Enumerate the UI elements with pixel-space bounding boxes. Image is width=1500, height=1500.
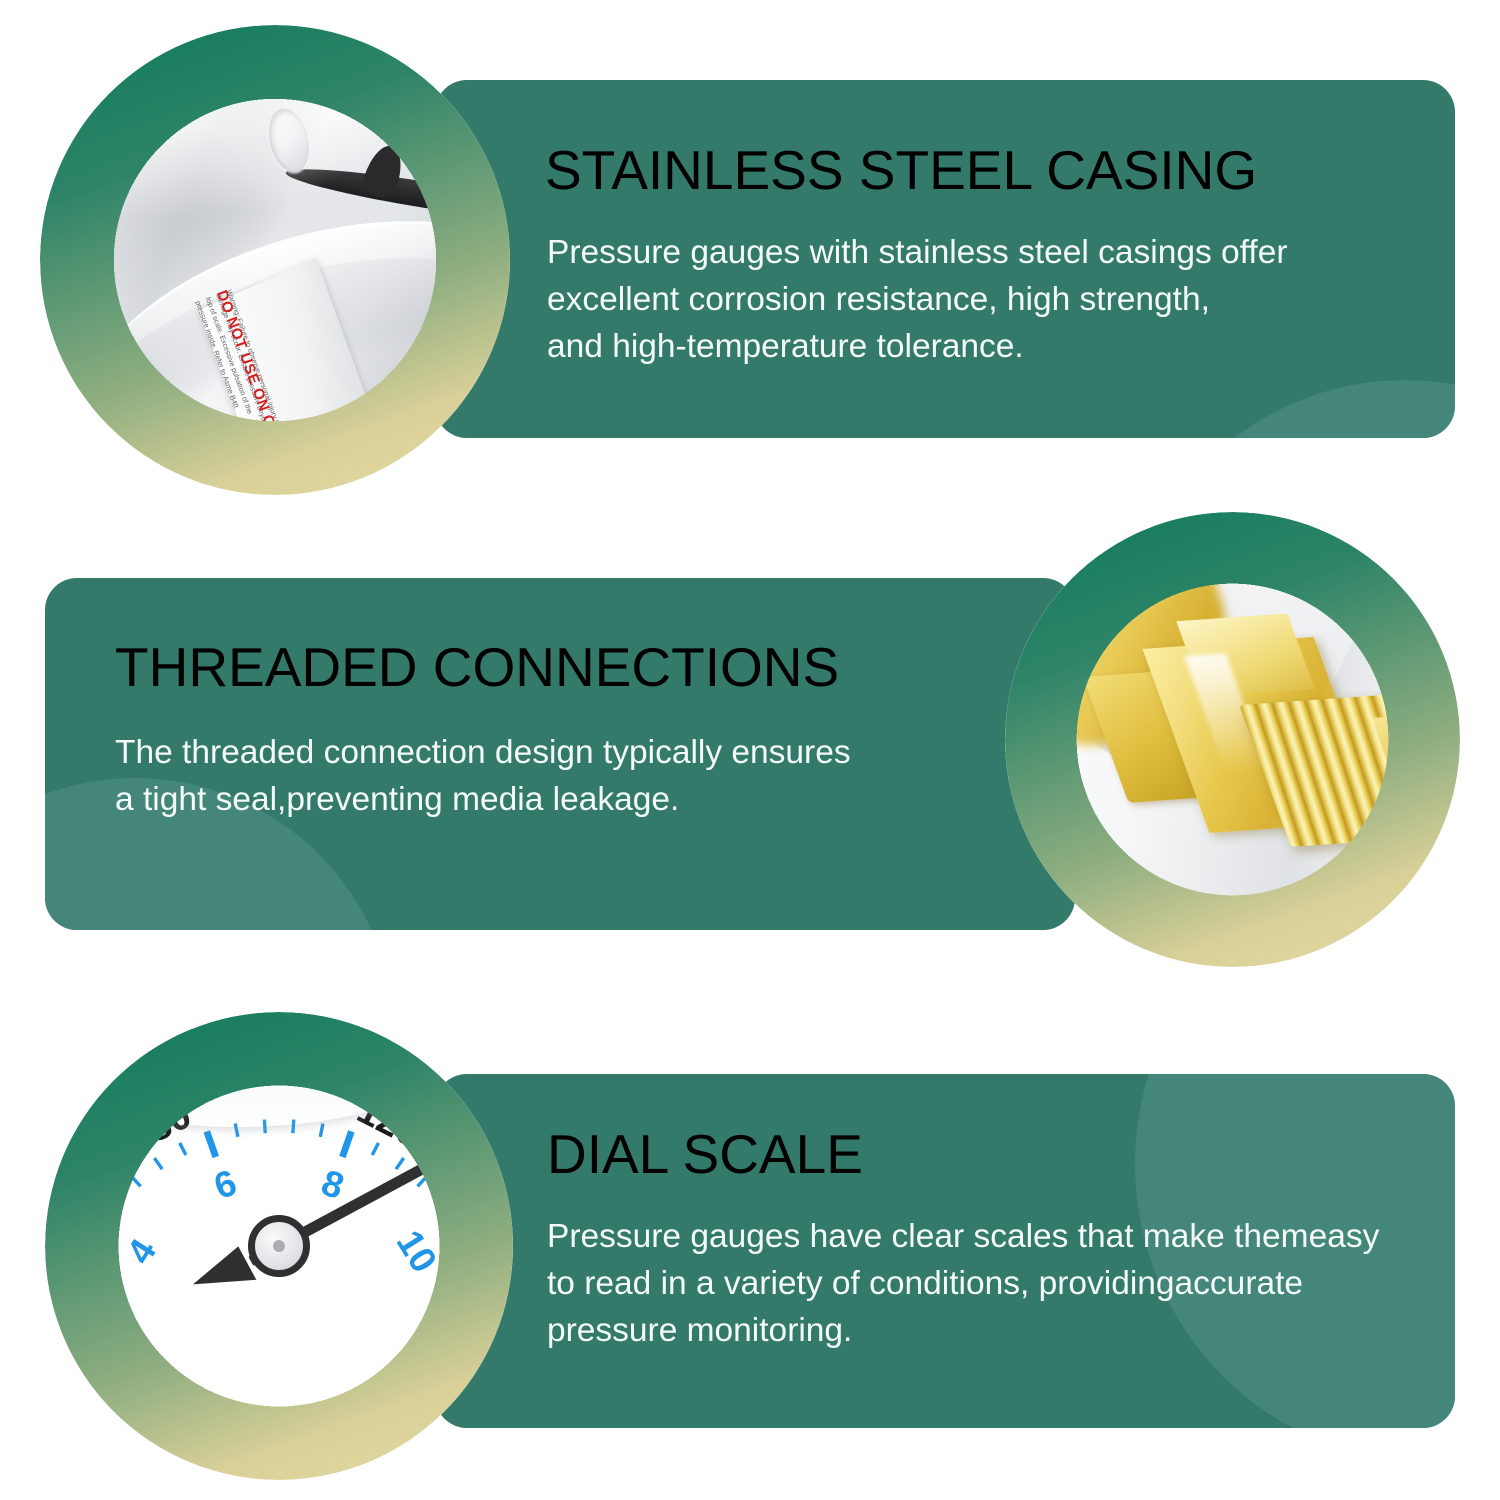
brass-threaded-fitting-photo <box>1005 512 1460 967</box>
svg-text:8: 8 <box>316 1161 349 1206</box>
gauge-needle-hub <box>248 1215 310 1277</box>
bar-tick-group <box>60 1119 498 1475</box>
feature-title-dial-scale: DIAL SCALE <box>547 1122 863 1186</box>
svg-text:10: 10 <box>389 1223 445 1279</box>
body-line: excellent corrosion resistance, high str… <box>547 277 1287 324</box>
dial-assembly: 80120160 24681012 <box>50 1017 508 1475</box>
body-line: The threaded connection design typically… <box>115 730 851 777</box>
photo-clip <box>1010 517 1455 962</box>
body-line: pressure monitoring. <box>547 1308 1379 1355</box>
svg-text:2: 2 <box>96 1343 139 1368</box>
feature-title-stainless-steel-casing: STAINLESS STEEL CASING <box>545 138 1257 202</box>
feature-panel-threaded-connections: THREADED CONNECTIONS The threaded connec… <box>45 578 1075 930</box>
stainless-steel-gauge-back-photo: Warning: Failure to observe personal inj… <box>40 25 510 495</box>
svg-text:160: 160 <box>492 1264 508 1335</box>
svg-text:6: 6 <box>209 1161 242 1206</box>
body-line: to read in a variety of conditions, prov… <box>547 1261 1379 1308</box>
feature-title-threaded-connections: THREADED CONNECTIONS <box>115 635 839 699</box>
panel-decorative-circle <box>1125 380 1455 438</box>
feature-panel-dial-scale: DIAL SCALE Pressure gauges have clear sc… <box>435 1074 1455 1428</box>
feature-body-threaded-connections: The threaded connection design typically… <box>115 730 851 824</box>
photo-clip: Warning: Failure to observe personal inj… <box>45 30 505 490</box>
feature-body-stainless-steel-casing: Pressure gauges with stainless steel cas… <box>547 230 1287 371</box>
svg-text:4: 4 <box>118 1231 164 1271</box>
gauge-dial-scale-photo: 80120160 24681012 <box>45 1012 513 1480</box>
body-line: and high-temperature tolerance. <box>547 324 1287 371</box>
feature-body-dial-scale: Pressure gauges have clear scales that m… <box>547 1214 1379 1355</box>
body-line: a tight seal,preventing media leakage. <box>115 777 851 824</box>
body-line: Pressure gauges have clear scales that m… <box>547 1214 1379 1261</box>
feature-panel-stainless-steel-casing: STAINLESS STEEL CASING Pressure gauges w… <box>435 80 1455 438</box>
photo-clip: 80120160 24681012 <box>50 1017 508 1475</box>
body-line: Pressure gauges with stainless steel cas… <box>547 230 1287 277</box>
infographic-stage: STAINLESS STEEL CASING Pressure gauges w… <box>0 0 1500 1500</box>
svg-text:12: 12 <box>418 1333 463 1378</box>
